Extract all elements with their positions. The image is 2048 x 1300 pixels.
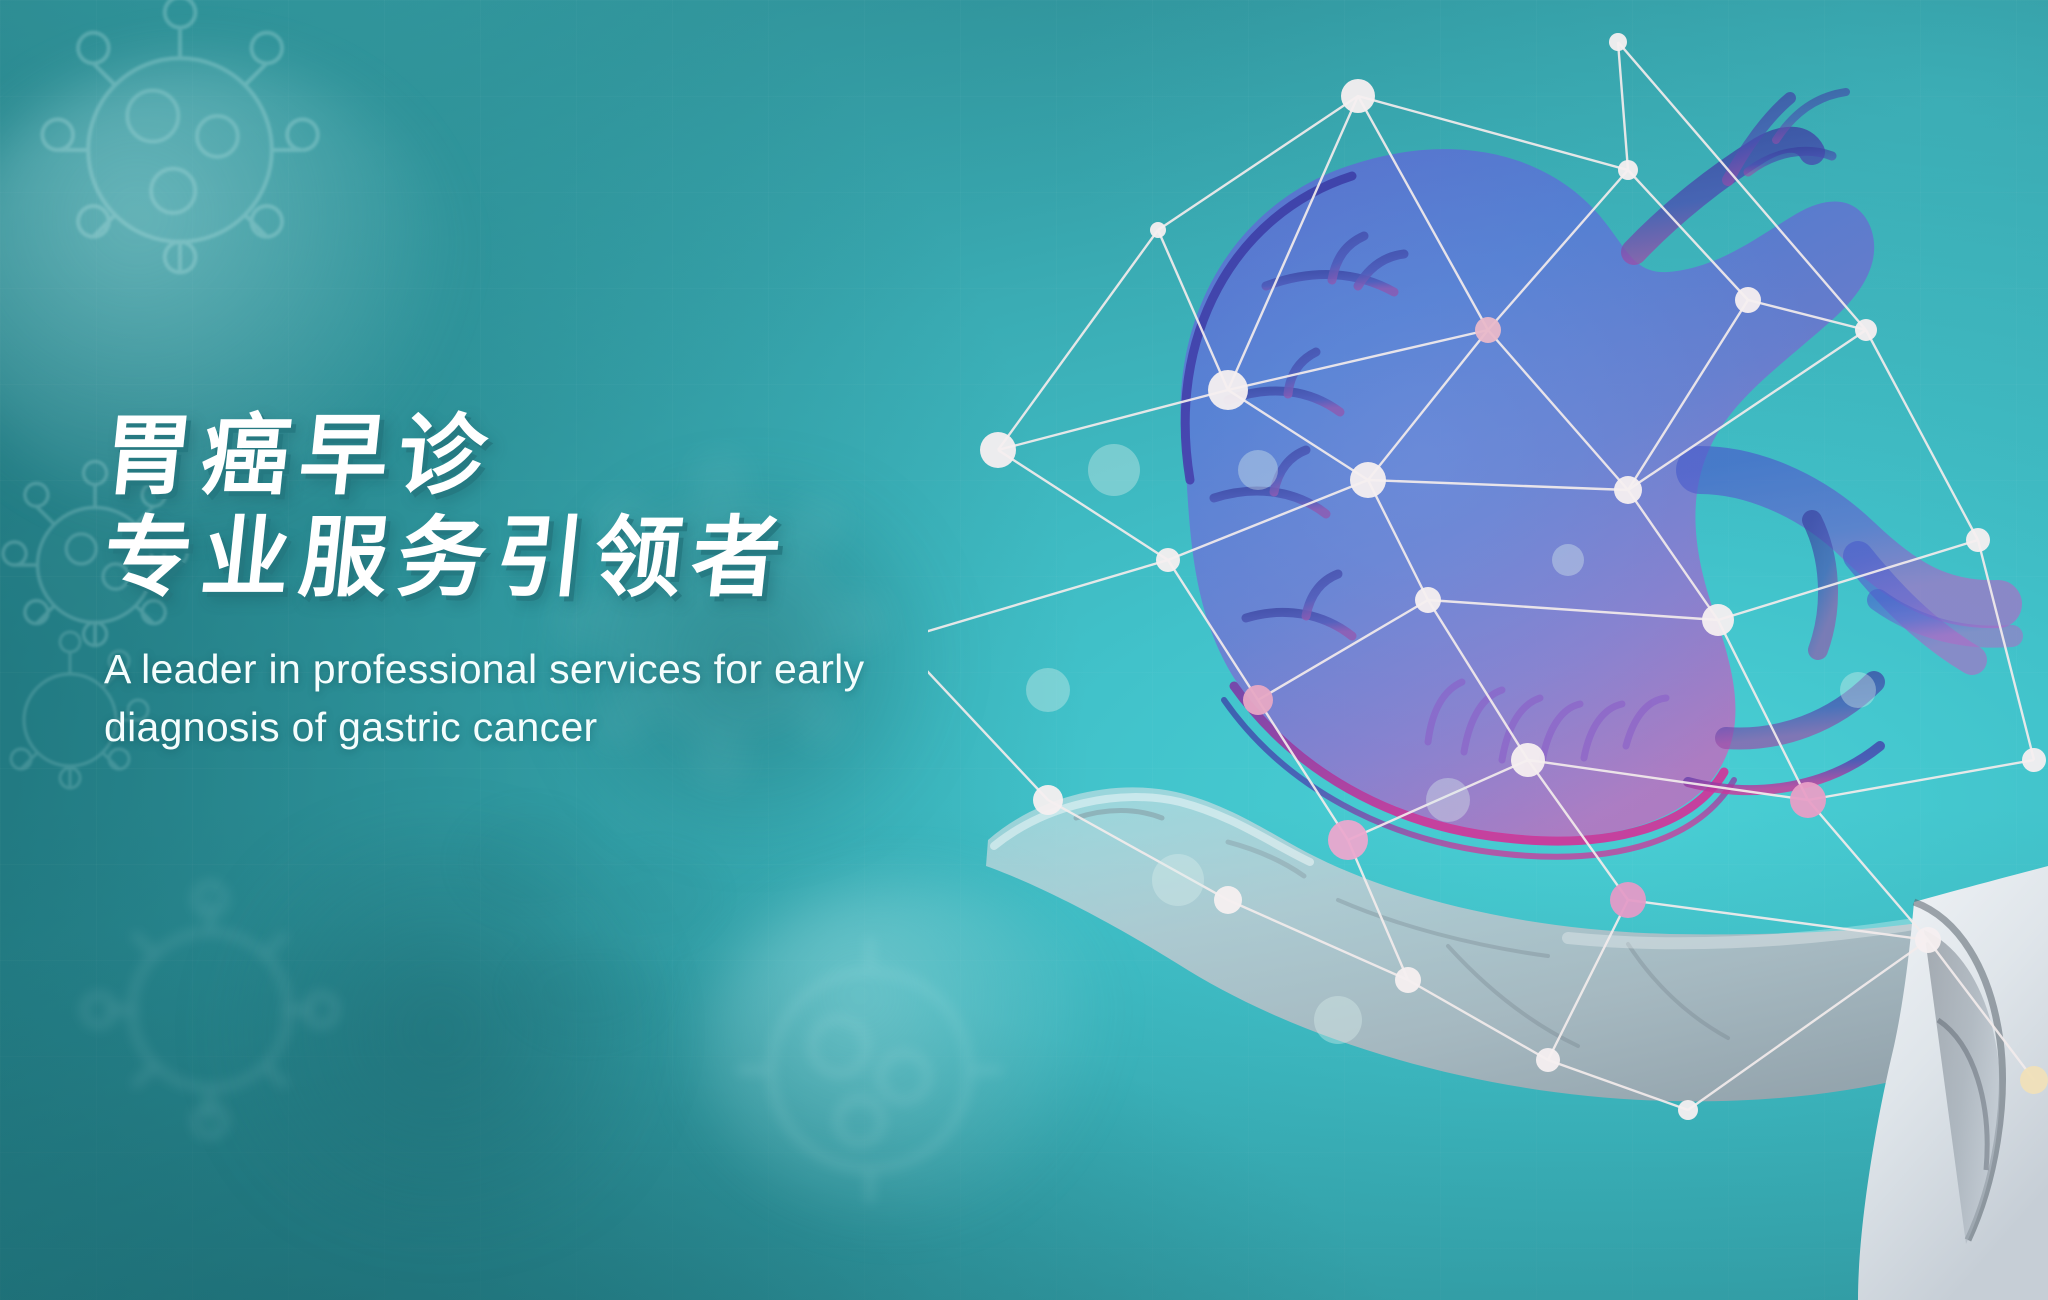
subheadline-en-line-2: diagnosis of gastric cancer <box>104 698 894 756</box>
subheadline-en-block: A leader in professional services for ea… <box>104 640 894 756</box>
headline-cn-line-1: 胃癌早诊 <box>99 404 1070 508</box>
virus-particle-icon <box>10 0 350 320</box>
low-poly-network-overlay-icon <box>928 0 2048 1300</box>
hero-banner: 胃癌早诊 专业服务引领者 A leader in professional se… <box>0 0 2048 1300</box>
hand-holding-stomach-illustration <box>928 0 2048 1300</box>
headline-copy-block: 胃癌早诊 专业服务引领者 A leader in professional se… <box>104 404 1064 756</box>
subheadline-en-line-1: A leader in professional services for ea… <box>104 640 894 698</box>
virus-particle-icon <box>60 860 360 1160</box>
headline-cn-line-2: 专业服务引领者 <box>99 506 1070 610</box>
